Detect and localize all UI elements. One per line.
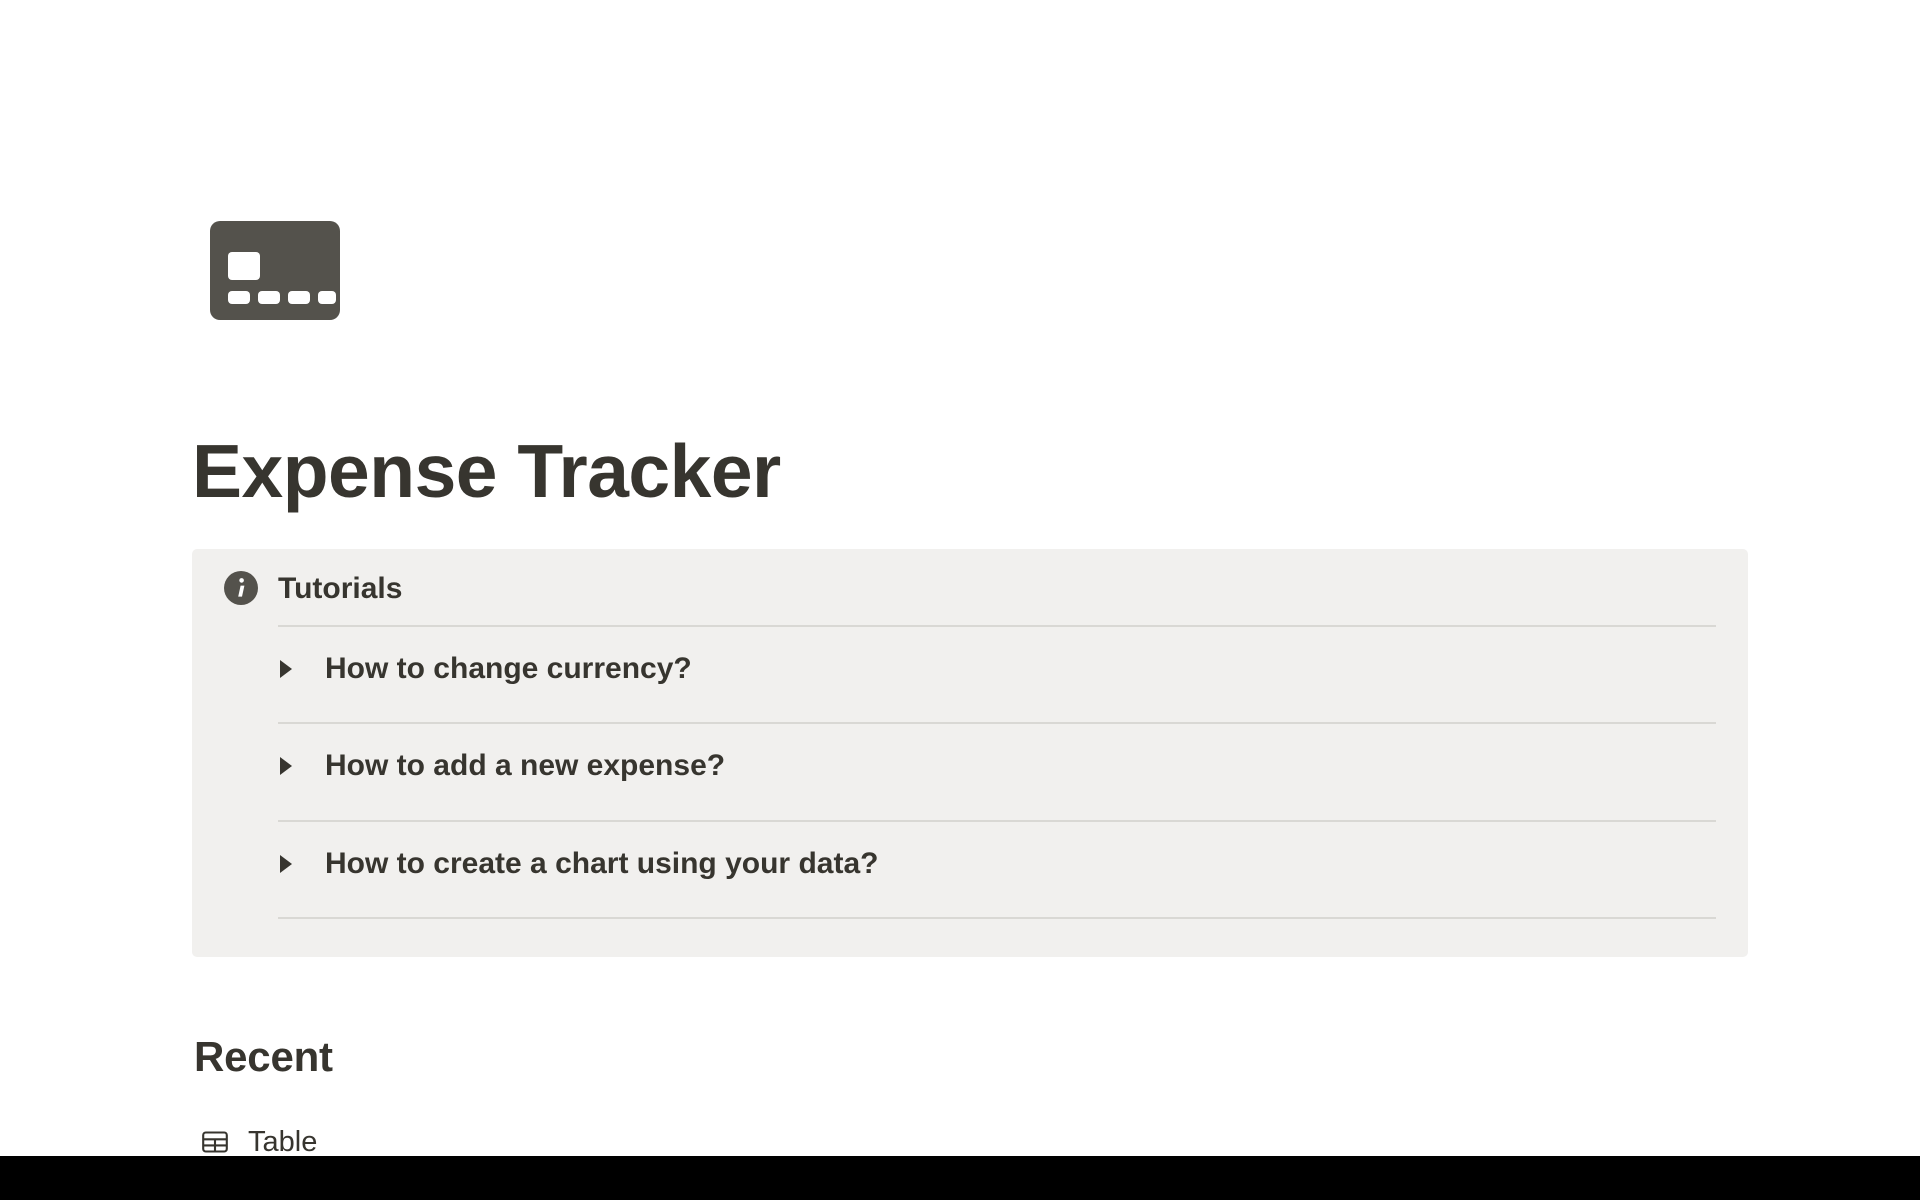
page-root: Expense Tracker Tutorials How to change …	[0, 0, 1920, 1200]
callout-divider	[278, 820, 1716, 822]
callout-divider	[278, 625, 1716, 627]
page-title[interactable]: Expense Tracker	[192, 425, 1792, 517]
table-icon	[200, 1127, 230, 1157]
callout-title: Tutorials	[278, 573, 402, 605]
toggle-label[interactable]: How to create a chart using your data?	[325, 846, 878, 882]
callout-divider	[278, 917, 1716, 919]
toggle-row[interactable]: How to change currency?	[278, 639, 1716, 699]
credit-card-icon[interactable]	[210, 221, 340, 320]
info-icon	[224, 571, 258, 605]
bottom-letterbox-bar	[0, 1156, 1920, 1200]
toggle-label[interactable]: How to add a new expense?	[325, 748, 725, 784]
recent-item-label[interactable]: Table	[248, 1125, 317, 1159]
callout-divider	[278, 722, 1716, 724]
tutorials-callout: Tutorials How to change currency? How to…	[192, 549, 1748, 957]
toggle-label[interactable]: How to change currency?	[325, 651, 692, 687]
toggle-row[interactable]: How to add a new expense?	[278, 736, 1716, 796]
toggle-row[interactable]: How to create a chart using your data?	[278, 834, 1716, 894]
recent-heading: Recent	[194, 1030, 333, 1084]
triangle-right-icon[interactable]	[278, 849, 308, 879]
triangle-right-icon[interactable]	[278, 751, 308, 781]
triangle-right-icon[interactable]	[278, 654, 308, 684]
callout-header: Tutorials	[192, 549, 1748, 627]
